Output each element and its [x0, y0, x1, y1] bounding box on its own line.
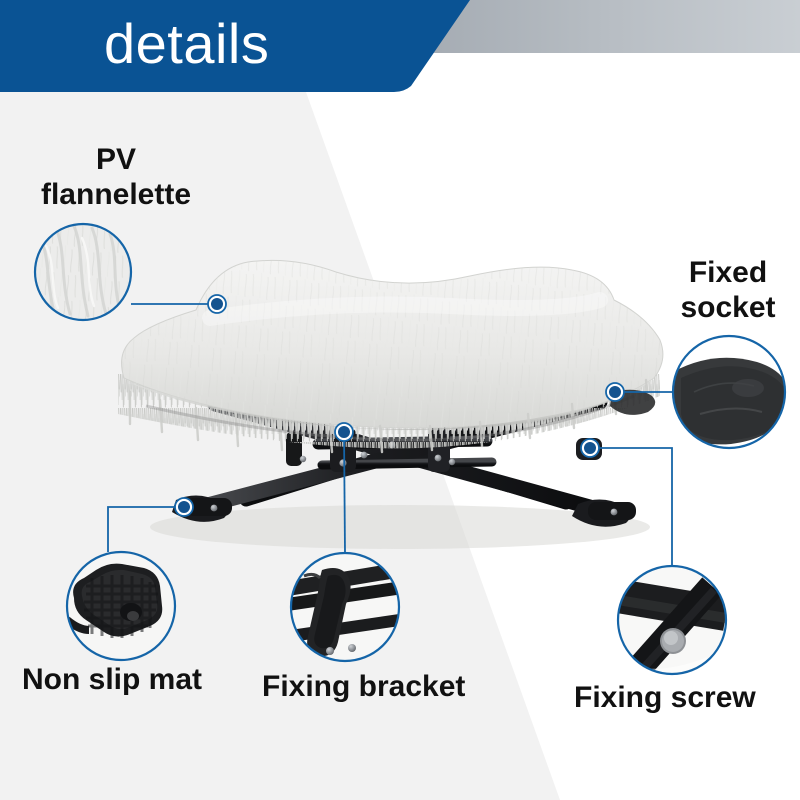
detail-circle-fixed-socket [673, 336, 788, 448]
callout-label-pv-flannelette: PV flannelette [26, 142, 206, 213]
frame-joint-right [576, 438, 602, 460]
callout-label-fixing-screw: Fixing screw [574, 680, 756, 715]
detail-circle-fixing-bracket [291, 553, 399, 661]
detail-circle-non-slip-mat [67, 552, 175, 660]
detail-circle-pv-flannelette [35, 224, 131, 320]
detail-circle-fixing-screw [618, 566, 726, 674]
fur-cushion [118, 260, 663, 452]
callout-label-non-slip-mat: Non slip mat [22, 662, 202, 697]
infographic-canvas: details [0, 0, 800, 800]
callout-label-fixing-bracket: Fixing bracket [262, 669, 465, 704]
callout-label-fixed-socket: Fixed socket [662, 255, 794, 326]
